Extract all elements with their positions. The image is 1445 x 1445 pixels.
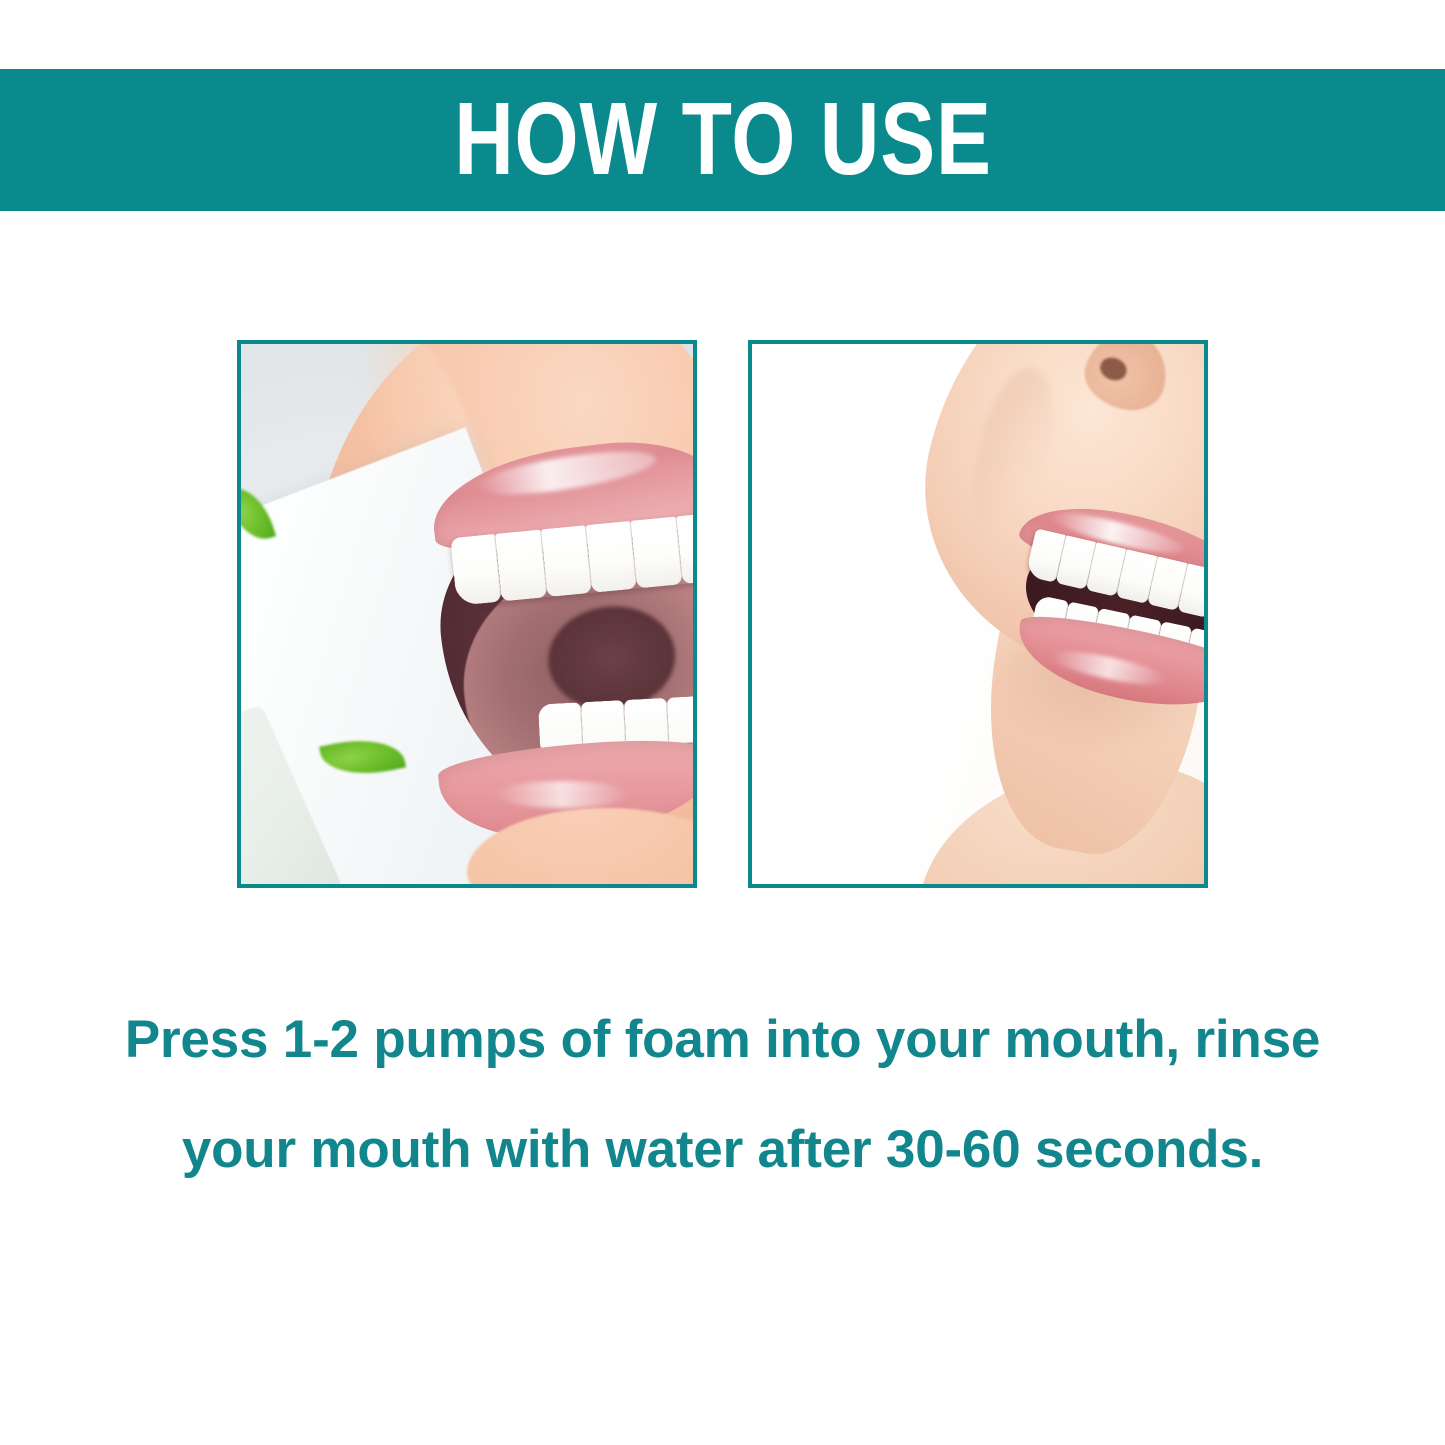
smiling-woman-photo-inner [752,344,1204,884]
how-to-use-infographic: HOW TO USE [0,0,1445,1445]
foam-into-mouth-photo [237,340,697,888]
smiling-woman-photo [748,340,1208,888]
instruction-caption: Press 1-2 pumps of foam into your mouth,… [0,985,1445,1205]
foam-into-mouth-photo-inner [241,344,693,884]
photo-row [237,340,1209,888]
page-title: HOW TO USE [454,87,992,194]
caption-line-2: your mouth with water after 30-60 second… [0,1095,1445,1205]
caption-line-1: Press 1-2 pumps of foam into your mouth,… [0,985,1445,1095]
header-banner: HOW TO USE [0,69,1445,211]
